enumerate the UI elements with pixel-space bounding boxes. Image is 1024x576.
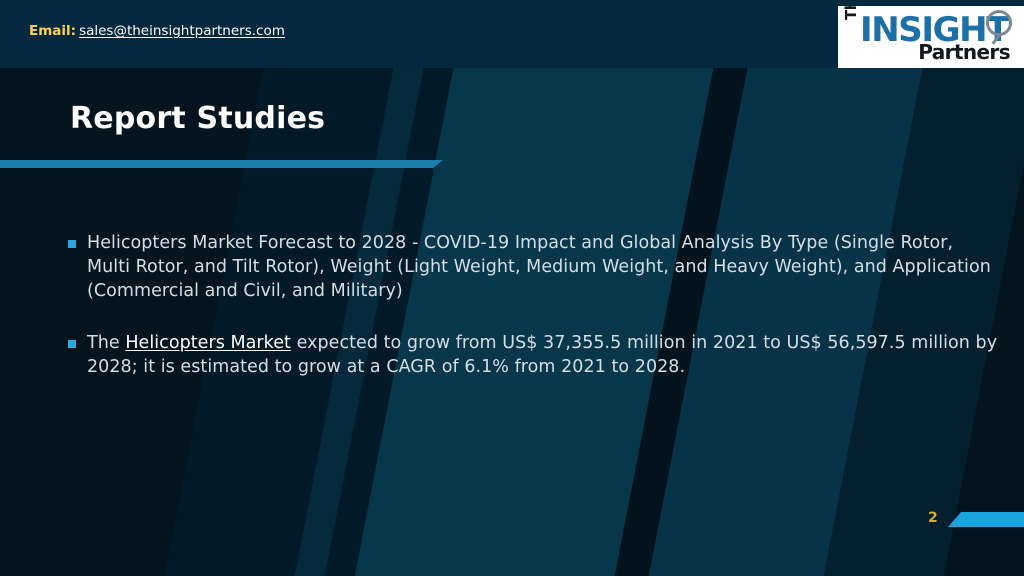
email-contact-line: Email:sales@theinsightpartners.com	[29, 25, 285, 39]
square-bullet-icon	[68, 240, 76, 248]
bullet-text-2: The Helicopters Market expected to grow …	[87, 332, 998, 380]
logo-inner: The INSIGHT Partners	[838, 6, 1024, 68]
page-title: Report Studies	[70, 101, 325, 137]
page-number: 2	[928, 511, 938, 526]
title-accent-bar	[0, 160, 443, 168]
email-address-link[interactable]: sales@theinsightpartners.com	[79, 23, 285, 39]
bullet-2-prefix: The	[87, 333, 125, 353]
list-item: Helicopters Market Forecast to 2028 - CO…	[68, 232, 998, 304]
square-bullet-icon	[68, 340, 76, 348]
bullet-text-1: Helicopters Market Forecast to 2028 - CO…	[87, 232, 998, 304]
bullet-list: Helicopters Market Forecast to 2028 - CO…	[68, 232, 998, 408]
logo-the-text: The	[844, 6, 859, 20]
footer-accent-bar	[948, 512, 1024, 527]
company-logo[interactable]: The INSIGHT Partners	[838, 6, 1024, 68]
email-label: Email:	[29, 23, 76, 39]
slide-root: Email:sales@theinsightpartners.com The I…	[0, 0, 1024, 576]
helicopters-market-link[interactable]: Helicopters Market	[125, 333, 291, 353]
magnifying-glass-icon	[986, 10, 1012, 36]
logo-partners-text: Partners	[918, 42, 1010, 62]
list-item: The Helicopters Market expected to grow …	[68, 332, 998, 380]
